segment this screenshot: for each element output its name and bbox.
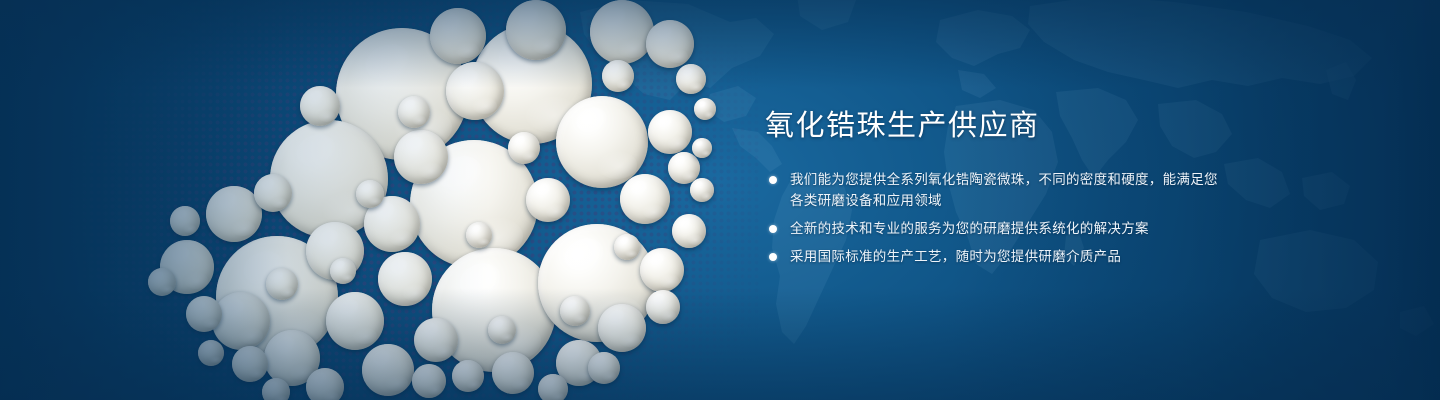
list-item-text: 我们能为您提供全系列氧化锆陶瓷微珠，不同的密度和硬度，能满足您各类研磨设备和应用… bbox=[790, 172, 1218, 208]
banner-text-panel: 氧化锆珠生产供应商 我们能为您提供全系列氧化锆陶瓷微珠，不同的密度和硬度，能满足… bbox=[765, 106, 1225, 267]
bullet-dot-icon bbox=[769, 176, 777, 184]
banner-title: 氧化锆珠生产供应商 bbox=[765, 106, 1225, 146]
bullet-dot-icon bbox=[769, 253, 777, 261]
list-item-text: 全新的技术和专业的服务为您的研磨提供系统化的解决方案 bbox=[790, 221, 1149, 236]
list-item-text: 采用国际标准的生产工艺，随时为您提供研磨介质产品 bbox=[790, 249, 1121, 264]
list-item: 我们能为您提供全系列氧化锆陶瓷微珠，不同的密度和硬度，能满足您各类研磨设备和应用… bbox=[765, 169, 1225, 211]
list-item: 采用国际标准的生产工艺，随时为您提供研磨介质产品 bbox=[765, 246, 1225, 267]
hero-banner: 氧化锆珠生产供应商 我们能为您提供全系列氧化锆陶瓷微珠，不同的密度和硬度，能满足… bbox=[0, 0, 1440, 400]
list-item: 全新的技术和专业的服务为您的研磨提供系统化的解决方案 bbox=[765, 218, 1225, 239]
banner-feature-list: 我们能为您提供全系列氧化锆陶瓷微珠，不同的密度和硬度，能满足您各类研磨设备和应用… bbox=[765, 169, 1225, 267]
bullet-dot-icon bbox=[769, 225, 777, 233]
